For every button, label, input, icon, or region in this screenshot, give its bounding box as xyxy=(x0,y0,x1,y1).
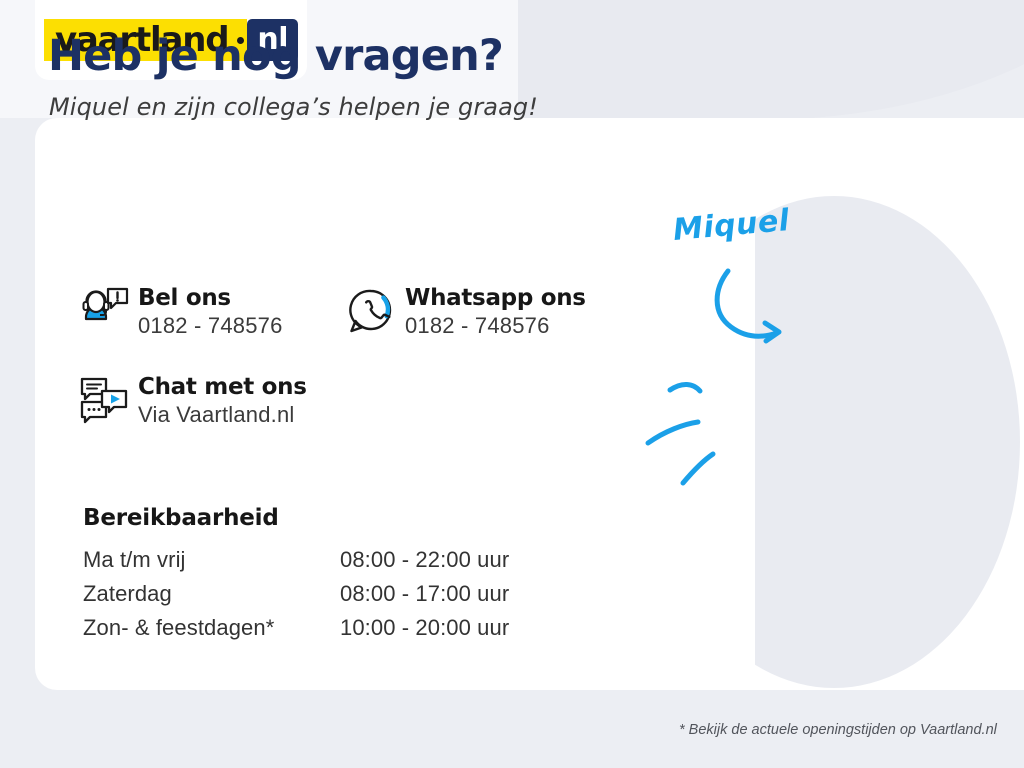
contact-detail[interactable]: Via Vaartland.nl xyxy=(138,400,307,430)
availability-hours: 10:00 - 20:00 uur xyxy=(340,615,555,649)
contact-item-chat-met-ons[interactable]: Chat met ons Via Vaartland.nl xyxy=(78,374,307,430)
page-title: Heb je nog vragen? xyxy=(48,31,503,81)
whatsapp-phone-bubble-icon xyxy=(345,287,397,340)
contact-detail[interactable]: 0182 - 748576 xyxy=(405,311,586,341)
contact-detail[interactable]: 0182 - 748576 xyxy=(138,311,283,341)
contact-title: Chat met ons xyxy=(138,374,307,400)
contact-text: Bel ons 0182 - 748576 xyxy=(130,285,283,341)
contact-text: Whatsapp ons 0182 - 748576 xyxy=(397,285,586,341)
contact-title: Whatsapp ons xyxy=(405,285,586,311)
table-row: Zon- & feestdagen* 10:00 - 20:00 uur xyxy=(83,615,555,649)
promo-banner: vaartland nl Heb je nog vragen? Miquel e… xyxy=(0,0,1024,768)
availability-day: Zon- & feestdagen* xyxy=(83,615,340,649)
availability-day: Ma t/m vrij xyxy=(83,547,340,581)
page-subtitle: Miquel en zijn collega’s helpen je graag… xyxy=(49,93,538,121)
availability-table: Ma t/m vrij 08:00 - 22:00 uur Zaterdag 0… xyxy=(83,547,555,649)
table-row: Zaterdag 08:00 - 17:00 uur xyxy=(83,581,555,615)
headset-person-speech-bubble-icon xyxy=(78,287,130,340)
contact-text: Chat met ons Via Vaartland.nl xyxy=(130,374,307,430)
agent-photo: vaartland nl doe jezelf een plezier xyxy=(620,118,1024,690)
contact-item-whatsapp-ons[interactable]: Whatsapp ons 0182 - 748576 xyxy=(345,285,586,341)
availability-day: Zaterdag xyxy=(83,581,340,615)
footnote: * Bekijk de actuele openingstijden op Va… xyxy=(679,722,997,738)
availability-title: Bereikbaarheid xyxy=(83,505,279,531)
background-left-gutter xyxy=(0,118,40,693)
chat-bubbles-play-icon xyxy=(78,376,130,429)
availability-hours: 08:00 - 22:00 uur xyxy=(340,547,555,581)
table-row: Ma t/m vrij 08:00 - 22:00 uur xyxy=(83,547,555,581)
availability-hours: 08:00 - 17:00 uur xyxy=(340,581,555,615)
contact-title: Bel ons xyxy=(138,285,283,311)
contact-item-bel-ons[interactable]: Bel ons 0182 - 748576 xyxy=(78,285,283,341)
